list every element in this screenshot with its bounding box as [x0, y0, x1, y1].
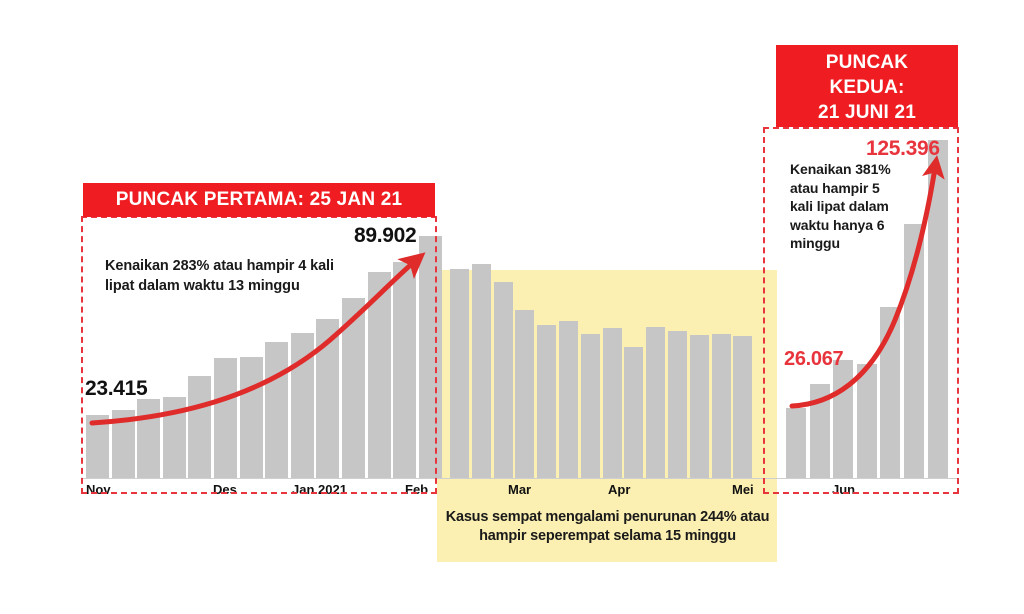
chart-bar [494, 282, 513, 478]
chart-bar [450, 269, 469, 478]
start-value-label: 23.415 [85, 377, 147, 401]
peak-one-annotation-pre: Kenaikan [105, 258, 173, 274]
chart-bar [472, 264, 491, 478]
decline-caption: Kasus sempat mengalami penurunan 244% at… [425, 508, 790, 546]
peak-one-banner-label: PUNCAK PERTAMA: 25 JAN 21 [116, 189, 403, 211]
peak-one-annotation-percent: 283% [173, 258, 210, 274]
peak-two-banner-line3: 21 JUNI 21 [818, 100, 916, 125]
decline-caption-percent: 244% [700, 509, 736, 525]
x-axis-tick-label: Mei [732, 482, 754, 497]
chart-bar [646, 327, 665, 478]
trough-value-label: 26.067 [784, 348, 843, 371]
peak-one-annotation: Kenaikan 283% atau hampir 4 kali lipat d… [105, 257, 365, 296]
peak-two-banner: PUNCAK KEDUA: 21 JUNI 21 [776, 45, 958, 127]
chart-bar [624, 347, 643, 478]
peak-two-banner-line2: KEDUA: [829, 75, 904, 100]
peak-two-annotation-pre: Kenaikan [790, 161, 855, 177]
peak-two-banner-line1: PUNCAK [826, 50, 908, 75]
chart-bar [537, 325, 556, 478]
decline-caption-pre: Kasus sempat mengalami penurunan [446, 509, 700, 525]
chart-bar [668, 331, 687, 478]
chart-bar [581, 334, 600, 478]
chart-bar [712, 334, 731, 478]
peak-one-banner: PUNCAK PERTAMA: 25 JAN 21 [83, 183, 435, 217]
x-axis-tick-label: Apr [608, 482, 630, 497]
x-axis-tick-label: Mar [508, 482, 531, 497]
peak-two-annotation: Kenaikan 381% atau hampir 5 kali lipat d… [790, 160, 895, 253]
chart-bar [603, 328, 622, 478]
peak-one-value-label: 89.902 [354, 224, 416, 248]
chart-bar [690, 335, 709, 478]
chart-bar [733, 336, 752, 478]
chart-bar [515, 310, 534, 478]
peak-two-value-label: 125.396 [866, 137, 940, 161]
chart-bar [559, 321, 578, 478]
infographic-canvas: NovDesJan 2021FebMarAprMeiJun PUNCAK PER… [0, 0, 1024, 614]
peak-two-annotation-post: atau hampir 5 kali lipat dalam waktu han… [790, 180, 889, 252]
peak-two-annotation-percent: 381% [855, 161, 890, 177]
